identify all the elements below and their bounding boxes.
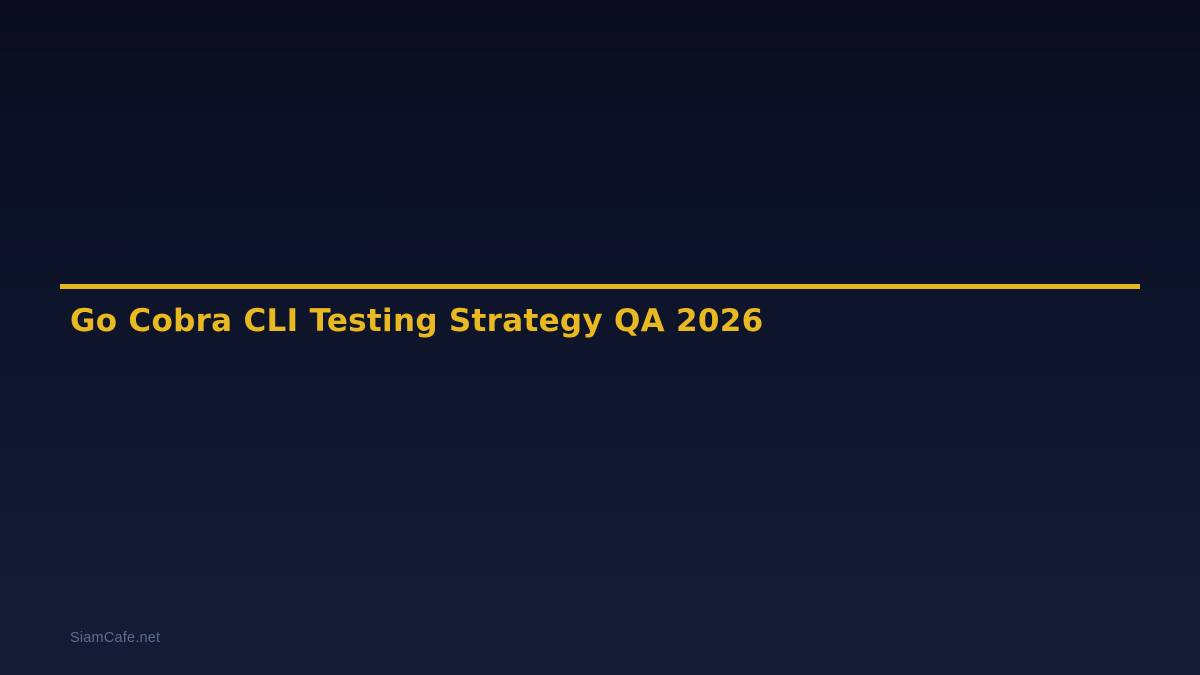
page-title: Go Cobra CLI Testing Strategy QA 2026 <box>70 304 764 340</box>
accent-bar <box>60 284 1140 289</box>
presentation-slide: Go Cobra CLI Testing Strategy QA 2026 Si… <box>0 0 1200 675</box>
footer-attribution: SiamCafe.net <box>70 630 160 646</box>
